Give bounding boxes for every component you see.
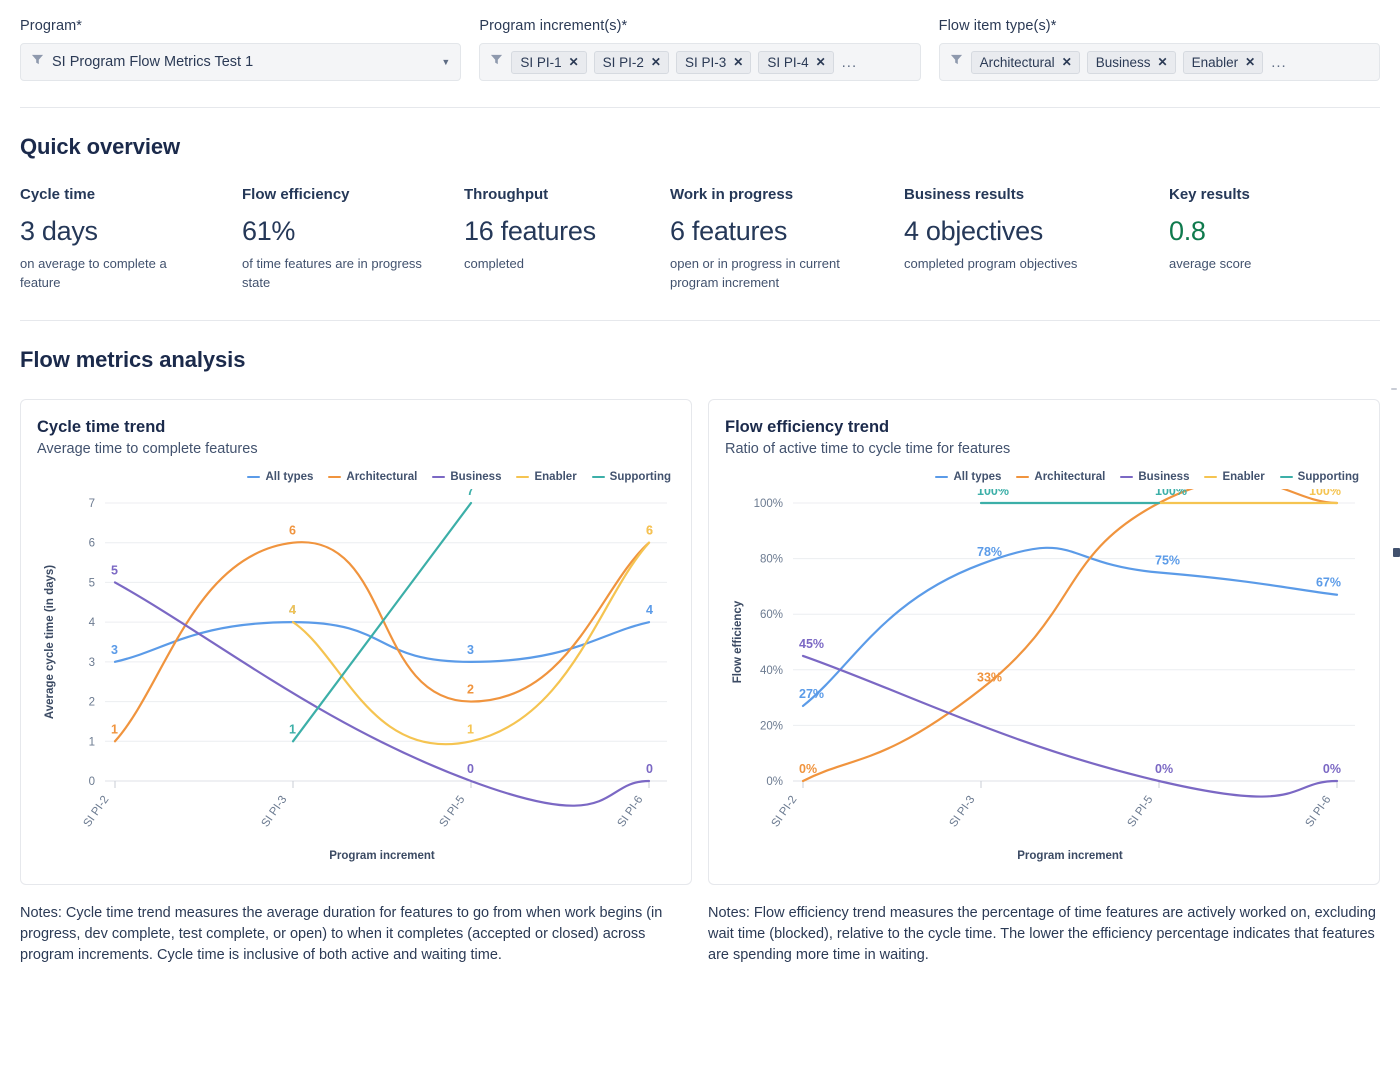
close-icon[interactable]: ✕ (816, 56, 826, 68)
metric-title: Throughput (464, 186, 670, 203)
chip-label: Enabler (1192, 55, 1239, 70)
chip-pi-2[interactable]: SI PI-2✕ (594, 51, 669, 74)
svg-text:4: 4 (89, 617, 96, 629)
program-select[interactable]: SI Program Flow Metrics Test 1 ▼ (20, 43, 461, 81)
svg-text:45%: 45% (799, 637, 824, 651)
filter-program-label: Program* (20, 18, 461, 34)
legend-swatch (592, 476, 605, 479)
filter-bar: Program* SI Program Flow Metrics Test 1 … (0, 0, 1400, 81)
chip-enabler[interactable]: Enabler✕ (1183, 51, 1264, 74)
metric-value: 16 features (464, 217, 670, 246)
chart-title: Cycle time trend (37, 418, 675, 437)
chip-label: SI PI-1 (520, 55, 561, 70)
legend-swatch (1120, 476, 1133, 479)
svg-text:Average cycle time (in days): Average cycle time (in days) (44, 565, 56, 719)
svg-text:3: 3 (467, 643, 474, 657)
dashboard-page: Program* SI Program Flow Metrics Test 1 … (0, 0, 1400, 1083)
svg-text:0%: 0% (1155, 762, 1173, 776)
filter-program: Program* SI Program Flow Metrics Test 1 … (20, 18, 461, 81)
legend-item-enabler[interactable]: Enabler (516, 471, 576, 483)
metric-sub: of time features are in progress state (242, 255, 432, 292)
close-icon[interactable]: ✕ (651, 56, 661, 68)
legend-item-enabler[interactable]: Enabler (1204, 471, 1264, 483)
svg-text:100%: 100% (1309, 489, 1341, 498)
svg-text:SI PI-3: SI PI-3 (259, 794, 289, 830)
metric-title: Work in progress (670, 186, 904, 203)
svg-text:100%: 100% (754, 498, 783, 510)
legend-item-supporting[interactable]: Supporting (1280, 471, 1359, 483)
metric-title: Key results (1169, 186, 1369, 203)
metric-sub: average score (1169, 255, 1359, 273)
note-cycle-time: Notes: Cycle time trend measures the ave… (20, 903, 692, 966)
svg-text:0: 0 (467, 762, 474, 776)
legend-swatch (247, 476, 260, 479)
funnel-icon (31, 53, 44, 71)
legend-label: Architectural (1034, 471, 1105, 483)
svg-text:2: 2 (89, 697, 95, 709)
metric-sub: on average to complete a feature (20, 255, 210, 292)
program-select-value: SI Program Flow Metrics Test 1 (52, 54, 433, 70)
metric-title: Cycle time (20, 186, 242, 203)
svg-text:33%: 33% (977, 670, 1002, 684)
notes-row: Notes: Cycle time trend measures the ave… (0, 903, 1400, 966)
metric-work-in-progress: Work in progress 6 features open or in p… (670, 186, 904, 292)
legend-label: Supporting (1298, 471, 1359, 483)
svg-text:7: 7 (89, 498, 95, 510)
metric-title: Business results (904, 186, 1169, 203)
metric-flow-efficiency: Flow efficiency 61% of time features are… (242, 186, 464, 292)
metric-sub: completed program objectives (904, 255, 1094, 273)
legend-swatch (1016, 476, 1029, 479)
svg-text:7: 7 (467, 489, 474, 498)
svg-text:100%: 100% (977, 489, 1009, 498)
metric-sub: open or in progress in current program i… (670, 255, 860, 292)
metric-cycle-time: Cycle time 3 days on average to complete… (20, 186, 242, 292)
chip-pi-4[interactable]: SI PI-4✕ (758, 51, 833, 74)
svg-text:6: 6 (646, 524, 653, 538)
scrollbar-thumb[interactable] (1391, 388, 1397, 390)
vertical-scrollbar[interactable] (1390, 385, 1398, 1075)
divider-top (20, 107, 1380, 108)
chart-subtitle: Average time to complete features (37, 441, 675, 457)
legend-item-all-types[interactable]: All types (247, 471, 313, 483)
svg-text:Flow efficiency: Flow efficiency (732, 600, 744, 683)
close-icon[interactable]: ✕ (733, 56, 743, 68)
chart-card-list: Cycle time trend Average time to complet… (0, 399, 1400, 885)
svg-text:80%: 80% (760, 554, 783, 566)
svg-text:SI PI-6: SI PI-6 (1303, 794, 1333, 830)
chip-business[interactable]: Business✕ (1087, 51, 1176, 74)
metric-list: Cycle time 3 days on average to complete… (0, 186, 1400, 292)
note-flow-efficiency: Notes: Flow efficiency trend measures th… (708, 903, 1380, 966)
svg-text:2: 2 (467, 683, 474, 697)
legend-item-supporting[interactable]: Supporting (592, 471, 671, 483)
chip-label: SI PI-4 (767, 55, 808, 70)
svg-text:4: 4 (646, 603, 653, 617)
plot-area-cycle-time: 01234567SI PI-2SI PI-3SI PI-5SI PI-6Prog… (37, 489, 675, 879)
svg-text:5: 5 (111, 563, 118, 577)
close-icon[interactable]: ✕ (1245, 56, 1255, 68)
funnel-icon (490, 53, 503, 71)
svg-text:SI PI-3: SI PI-3 (947, 794, 977, 830)
legend-swatch (328, 476, 341, 479)
svg-text:100%: 100% (1155, 489, 1187, 498)
svg-text:4: 4 (289, 603, 296, 617)
filter-program-increments: Program increment(s)* SI PI-1✕ SI PI-2✕ … (479, 18, 920, 81)
flow-metrics-analysis-title: Flow metrics analysis (0, 347, 1400, 373)
svg-text:0%: 0% (799, 762, 817, 776)
close-icon[interactable]: ✕ (1158, 56, 1168, 68)
legend-item-business[interactable]: Business (1120, 471, 1189, 483)
svg-text:1: 1 (467, 722, 474, 736)
chip-label: Business (1096, 55, 1151, 70)
svg-text:27%: 27% (799, 687, 824, 701)
fit-overflow-ellipsis[interactable]: ... (1270, 54, 1287, 71)
svg-text:Program increment: Program increment (329, 850, 435, 862)
pi-overflow-ellipsis[interactable]: ... (841, 54, 858, 71)
chart-subtitle: Ratio of active time to cycle time for f… (725, 441, 1363, 457)
chip-pi-3[interactable]: SI PI-3✕ (676, 51, 751, 74)
fit-chip-list: Architectural✕ Business✕ Enabler✕ ... (971, 51, 1369, 74)
chip-label: Architectural (980, 55, 1055, 70)
close-icon[interactable]: ✕ (569, 56, 579, 68)
legend-label: Business (1138, 471, 1189, 483)
legend-item-architectural[interactable]: Architectural (1016, 471, 1105, 483)
svg-text:1: 1 (111, 722, 118, 736)
metric-value: 61% (242, 217, 464, 246)
legend-label: All types (265, 471, 313, 483)
legend-item-architectural[interactable]: Architectural (328, 471, 417, 483)
close-icon[interactable]: ✕ (1062, 56, 1072, 68)
chip-architectural[interactable]: Architectural✕ (971, 51, 1080, 74)
filter-flow-item-types: Flow item type(s)* Architectural✕ Busine… (939, 18, 1380, 81)
pi-chip-list: SI PI-1✕ SI PI-2✕ SI PI-3✕ SI PI-4✕ ... (511, 51, 909, 74)
cycle-time-trend-chart: 01234567SI PI-2SI PI-3SI PI-5SI PI-6Prog… (37, 489, 677, 879)
chip-label: SI PI-2 (603, 55, 644, 70)
chip-label: SI PI-3 (685, 55, 726, 70)
metric-value: 3 days (20, 217, 242, 246)
edge-marker-icon (1393, 548, 1400, 557)
legend-swatch (1204, 476, 1217, 479)
metric-business-results: Business results 4 objectives completed … (904, 186, 1169, 292)
svg-text:3: 3 (89, 657, 95, 669)
legend-label: Enabler (534, 471, 576, 483)
legend-swatch (935, 476, 948, 479)
svg-text:0: 0 (89, 776, 95, 788)
chart-legend: All types Architectural Business Enabler… (725, 471, 1363, 483)
chart-legend: All types Architectural Business Enabler… (37, 471, 675, 483)
svg-text:40%: 40% (760, 665, 783, 677)
metric-value: 0.8 (1169, 217, 1369, 246)
svg-text:60%: 60% (760, 609, 783, 621)
svg-text:SI PI-5: SI PI-5 (1125, 794, 1155, 830)
legend-label: Enabler (1222, 471, 1264, 483)
svg-text:0%: 0% (1323, 762, 1341, 776)
metric-value: 4 objectives (904, 217, 1169, 246)
flow-efficiency-trend-chart: 0%20%40%60%80%100%SI PI-2SI PI-3SI PI-5S… (725, 489, 1365, 879)
svg-text:6: 6 (289, 524, 296, 538)
legend-item-business[interactable]: Business (432, 471, 501, 483)
svg-text:20%: 20% (760, 720, 783, 732)
svg-text:67%: 67% (1316, 576, 1341, 590)
metric-sub: completed (464, 255, 654, 273)
plot-area-flow-efficiency: 0%20%40%60%80%100%SI PI-2SI PI-3SI PI-5S… (725, 489, 1363, 879)
card-flow-efficiency-trend: Flow efficiency trend Ratio of active ti… (708, 399, 1380, 885)
legend-label: Business (450, 471, 501, 483)
svg-text:SI PI-6: SI PI-6 (615, 794, 645, 830)
filter-fit-label: Flow item type(s)* (939, 18, 1380, 34)
svg-text:3: 3 (111, 643, 118, 657)
divider-mid (20, 320, 1380, 321)
metric-title: Flow efficiency (242, 186, 464, 203)
pi-multiselect[interactable]: SI PI-1✕ SI PI-2✕ SI PI-3✕ SI PI-4✕ ... (479, 43, 920, 81)
legend-label: All types (953, 471, 1001, 483)
svg-text:75%: 75% (1155, 554, 1180, 568)
svg-text:78%: 78% (977, 545, 1002, 559)
svg-text:Program increment: Program increment (1017, 850, 1123, 862)
svg-text:5: 5 (89, 577, 95, 589)
chart-title: Flow efficiency trend (725, 418, 1363, 437)
legend-swatch (516, 476, 529, 479)
legend-swatch (1280, 476, 1293, 479)
legend-label: Architectural (346, 471, 417, 483)
svg-text:SI PI-2: SI PI-2 (769, 794, 799, 830)
svg-text:1: 1 (289, 722, 296, 736)
svg-text:SI PI-5: SI PI-5 (437, 794, 467, 830)
funnel-icon (950, 53, 963, 71)
filter-pi-label: Program increment(s)* (479, 18, 920, 34)
chip-pi-1[interactable]: SI PI-1✕ (511, 51, 586, 74)
svg-text:1: 1 (89, 736, 95, 748)
metric-value: 6 features (670, 217, 904, 246)
quick-overview-title: Quick overview (0, 134, 1400, 160)
card-cycle-time-trend: Cycle time trend Average time to complet… (20, 399, 692, 885)
svg-text:SI PI-2: SI PI-2 (81, 794, 111, 830)
legend-label: Supporting (610, 471, 671, 483)
fit-multiselect[interactable]: Architectural✕ Business✕ Enabler✕ ... (939, 43, 1380, 81)
chevron-down-icon[interactable]: ▼ (441, 58, 450, 67)
metric-throughput: Throughput 16 features completed (464, 186, 670, 292)
svg-text:0: 0 (646, 762, 653, 776)
legend-swatch (432, 476, 445, 479)
legend-item-all-types[interactable]: All types (935, 471, 1001, 483)
metric-key-results: Key results 0.8 average score (1169, 186, 1369, 292)
svg-text:0%: 0% (766, 776, 783, 788)
svg-text:6: 6 (89, 538, 95, 550)
